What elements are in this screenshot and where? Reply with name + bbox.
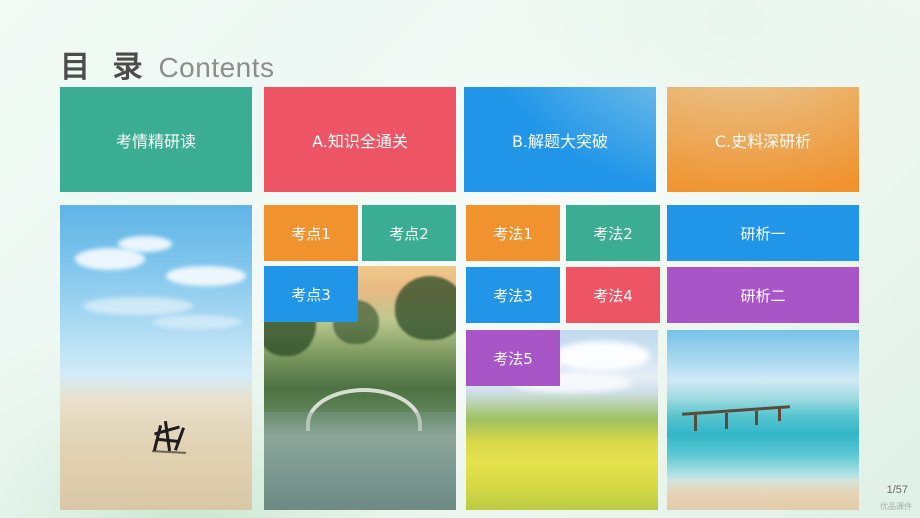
section-card-kaoqing[interactable]: 考情精研读 <box>60 87 252 192</box>
section-card-a[interactable]: A.知识全通关 <box>264 87 456 192</box>
subsection-card-label: 研析一 <box>740 223 785 244</box>
section-card-label: C.史料深研析 <box>715 128 811 152</box>
section-card-b[interactable]: B.解题大突破 <box>464 87 656 192</box>
beach-chair-silhouette <box>152 421 198 461</box>
subsection-card-label: 考法3 <box>493 285 533 306</box>
subsection-card-kaodian2[interactable]: 考点2 <box>362 205 456 261</box>
page-title: 目 录 Contents <box>60 42 275 86</box>
section-card-label: B.解题大突破 <box>512 128 608 152</box>
subsection-card-label: 研析二 <box>740 285 785 306</box>
subsection-card-label: 考点3 <box>291 284 331 305</box>
subsection-card-yanxi2[interactable]: 研析二 <box>667 267 859 323</box>
subsection-card-label: 考点1 <box>291 223 331 244</box>
section-card-label: 考情精研读 <box>116 128 196 152</box>
tropical-pier-photo <box>667 330 859 510</box>
subsection-card-label: 考点2 <box>389 223 429 244</box>
subsection-card-kaofa5[interactable]: 考法5 <box>466 330 560 386</box>
subsection-card-kaofa2[interactable]: 考法2 <box>566 205 660 261</box>
slide-canvas: 目 录 Contents 考情精研读 A.知识全通关 B.解题大突破 C.史料深… <box>0 0 920 518</box>
page-title-en: Contents <box>158 52 274 84</box>
subsection-card-kaodian3[interactable]: 考点3 <box>264 266 358 322</box>
watermark-text: 优品课件 <box>880 501 912 512</box>
subsection-card-kaofa4[interactable]: 考法4 <box>566 267 660 323</box>
subsection-card-kaofa1[interactable]: 考法1 <box>466 205 560 261</box>
section-card-c[interactable]: C.史料深研析 <box>667 87 859 192</box>
subsection-card-label: 考法2 <box>593 223 633 244</box>
section-card-label: A.知识全通关 <box>312 128 408 152</box>
page-number: 1/57 <box>887 484 908 496</box>
subsection-card-kaofa3[interactable]: 考法3 <box>466 267 560 323</box>
subsection-card-kaodian1[interactable]: 考点1 <box>264 205 358 261</box>
page-title-cn: 目 录 <box>60 42 148 86</box>
subsection-card-label: 考法5 <box>493 348 533 369</box>
subsection-card-yanxi1[interactable]: 研析一 <box>667 205 859 261</box>
subsection-card-label: 考法4 <box>593 285 633 306</box>
subsection-card-label: 考法1 <box>493 223 533 244</box>
beach-chair-photo <box>60 205 252 510</box>
